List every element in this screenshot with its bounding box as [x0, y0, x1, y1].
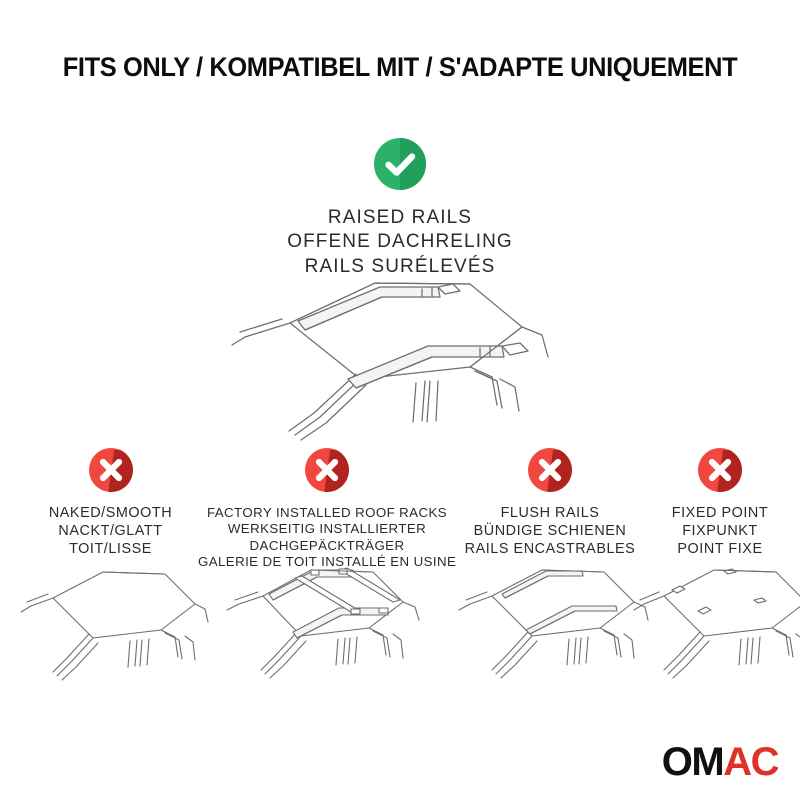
- check-circle-icon: [374, 138, 426, 190]
- x-circle-icon: [89, 448, 133, 492]
- compatible-label-en: RAISED RAILS: [0, 206, 800, 230]
- page-title: FITS ONLY / KOMPATIBEL MIT / S'ADAPTE UN…: [16, 52, 784, 83]
- incompatible-item-factory-rack: FACTORY INSTALLED ROOF RACKS WERKSEITIG …: [198, 448, 456, 571]
- naked-label-en: NAKED/SMOOTH: [8, 505, 213, 523]
- fixed-label-en: FIXED POINT: [640, 505, 800, 523]
- car-roof-fixed-point-illustration: [628, 552, 800, 686]
- incompatible-item-fixed-point: FIXED POINT FIXPUNKT POINT FIXE: [640, 448, 800, 559]
- incompatible-labels-fixed-point: FIXED POINT FIXPUNKT POINT FIXE: [640, 505, 800, 559]
- header: FITS ONLY / KOMPATIBEL MIT / S'ADAPTE UN…: [0, 52, 800, 83]
- naked-label-fr: TOIT/LISSE: [8, 541, 213, 559]
- x-circle-icon: [305, 448, 349, 492]
- logo-text-red: AC: [723, 742, 778, 782]
- incompatible-section: NAKED/SMOOTH NACKT/GLATT TOIT/LISSE: [0, 448, 800, 758]
- fixed-label-de: FIXPUNKT: [640, 523, 800, 541]
- incompatible-item-flush-rails: FLUSH RAILS BÜNDIGE SCHIENEN RAILS ENCAS…: [450, 448, 650, 559]
- omac-logo: OMAC: [662, 742, 778, 782]
- car-roof-factory-rack-illustration: [211, 548, 443, 690]
- incompatible-item-naked: NAKED/SMOOTH NACKT/GLATT TOIT/LISSE: [8, 448, 213, 559]
- logo-text-dark: OM: [662, 742, 723, 782]
- factory-label-de-1: WERKSEITIG INSTALLIERTER: [198, 521, 456, 537]
- compatible-label-de: OFFENE DACHRELING: [0, 230, 800, 254]
- factory-label-en: FACTORY INSTALLED ROOF RACKS: [198, 505, 456, 521]
- x-circle-icon: [528, 448, 572, 492]
- x-circle-icon: [698, 448, 742, 492]
- compatible-labels: RAISED RAILS OFFENE DACHRELING RAILS SUR…: [0, 206, 800, 279]
- incompatible-labels-naked: NAKED/SMOOTH NACKT/GLATT TOIT/LISSE: [8, 505, 213, 559]
- car-roof-flush-rails-illustration: [450, 554, 650, 686]
- incompatible-labels-flush-rails: FLUSH RAILS BÜNDIGE SCHIENEN RAILS ENCAS…: [450, 505, 650, 559]
- car-roof-raised-rails-illustration: [170, 275, 630, 450]
- flush-label-de: BÜNDIGE SCHIENEN: [450, 523, 650, 541]
- naked-label-de: NACKT/GLATT: [8, 523, 213, 541]
- compatible-section: RAISED RAILS OFFENE DACHRELING RAILS SUR…: [0, 138, 800, 279]
- flush-label-en: FLUSH RAILS: [450, 505, 650, 523]
- fitment-infographic: FITS ONLY / KOMPATIBEL MIT / S'ADAPTE UN…: [0, 0, 800, 800]
- car-roof-naked-smooth-illustration: [13, 560, 209, 688]
